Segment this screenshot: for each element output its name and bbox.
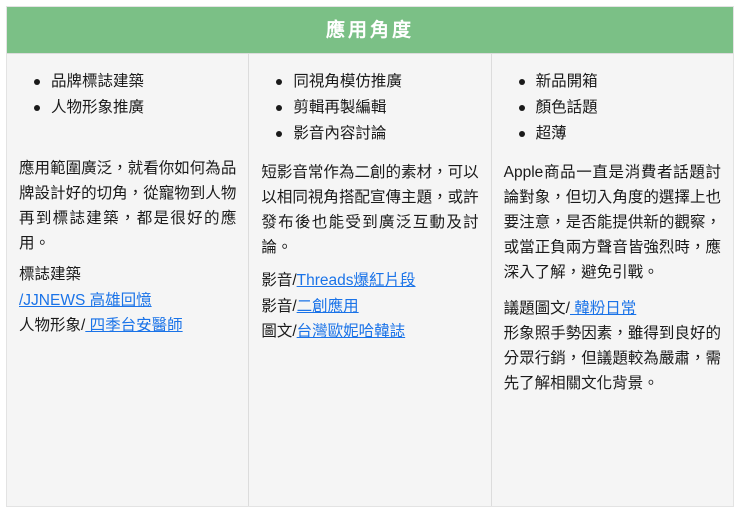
column-3-bullet-list: 新品開箱 顏色話題 超薄 <box>504 70 721 148</box>
link-prefix: 議題圖文/ <box>504 300 570 317</box>
page-title: 應用角度 <box>326 21 414 40</box>
list-item: 影音內容討論 <box>291 122 478 146</box>
list-item: 超薄 <box>534 122 721 146</box>
list-item: 剪輯再製編輯 <box>291 96 478 120</box>
link-prefix: 圖文/ <box>261 323 296 340</box>
table-body-row: 品牌標誌建築 人物形象推廣 應用範圍廣泛，就看你如何為品牌設計好的切角，從寵物到… <box>7 54 733 506</box>
link-line: 人物形象/ 四季台安醫師 <box>19 313 236 338</box>
link-sijitaian-doctor[interactable]: 四季台安醫師 <box>85 317 182 334</box>
link-jjnews-kaohsiung[interactable]: /JJNEWS 高雄回憶 <box>19 292 152 309</box>
link-line: 影音/二創應用 <box>261 294 478 319</box>
link-taiwan-onni-korea[interactable]: 台灣歐妮哈韓誌 <box>297 323 406 340</box>
link-prefix: 影音/ <box>261 272 296 289</box>
link-line: /JJNEWS 高雄回憶 <box>19 288 236 313</box>
list-item: 顏色話題 <box>534 96 721 120</box>
column-3-links: 議題圖文/ 韓粉日常 <box>504 296 721 321</box>
column-1-paragraph: 應用範圍廣泛，就看你如何為品牌設計好的切角，從寵物到人物再到標誌建築，都是很好的… <box>19 156 236 256</box>
link-prefix: 人物形象/ <box>19 317 85 334</box>
column-2-spacer <box>261 148 478 160</box>
column-3-tail-paragraph: 形象照手勢因素，雖得到良好的分眾行銷，但議題較為嚴肅，需先了解相關文化背景。 <box>504 321 721 396</box>
link-line: 影音/Threads爆紅片段 <box>261 268 478 293</box>
column-3-spacer <box>504 148 721 160</box>
column-1-links: 標誌建築 /JJNEWS 高雄回憶 人物形象/ 四季台安醫師 <box>19 262 236 337</box>
column-1-spacer <box>19 122 236 156</box>
column-1-bullet-list: 品牌標誌建築 人物形象推廣 <box>19 70 236 122</box>
list-item: 人物形象推廣 <box>49 96 236 120</box>
comparison-table: 應用角度 品牌標誌建築 人物形象推廣 應用範圍廣泛，就看你如何為品牌設計好的切角… <box>6 6 734 507</box>
list-item: 同視角模仿推廣 <box>291 70 478 94</box>
table-header-row: 應用角度 <box>7 7 733 54</box>
list-item: 新品開箱 <box>534 70 721 94</box>
link-line: 標誌建築 <box>19 262 236 287</box>
link-line: 圖文/台灣歐妮哈韓誌 <box>261 319 478 344</box>
link-secondary-creation[interactable]: 二創應用 <box>297 298 359 315</box>
column-2-paragraph: 短影音常作為二創的素材，可以以相同視角搭配宣傳主題，或許發布後也能受到廣泛互動及… <box>261 160 478 260</box>
link-prefix: 標誌建築 <box>19 266 81 283</box>
link-threads-viral-clip[interactable]: Threads爆紅片段 <box>297 272 416 289</box>
column-2-links: 影音/Threads爆紅片段 影音/二創應用 圖文/台灣歐妮哈韓誌 <box>261 268 478 343</box>
column-3-paragraph: Apple商品一直是消費者話題討論對象，但切入角度的選擇上也要注意，是否能提供新… <box>504 160 721 286</box>
link-han-fan-daily[interactable]: 韓粉日常 <box>570 300 636 317</box>
link-prefix: 影音/ <box>261 298 296 315</box>
column-1: 品牌標誌建築 人物形象推廣 應用範圍廣泛，就看你如何為品牌設計好的切角，從寵物到… <box>7 54 248 506</box>
column-2: 同視角模仿推廣 剪輯再製編輯 影音內容討論 短影音常作為二創的素材，可以以相同視… <box>248 54 490 506</box>
column-3: 新品開箱 顏色話題 超薄 Apple商品一直是消費者話題討論對象，但切入角度的選… <box>491 54 733 506</box>
column-2-bullet-list: 同視角模仿推廣 剪輯再製編輯 影音內容討論 <box>261 70 478 148</box>
list-item: 品牌標誌建築 <box>49 70 236 94</box>
link-line: 議題圖文/ 韓粉日常 <box>504 296 721 321</box>
slide-root: 應用角度 品牌標誌建築 人物形象推廣 應用範圍廣泛，就看你如何為品牌設計好的切角… <box>0 0 740 513</box>
